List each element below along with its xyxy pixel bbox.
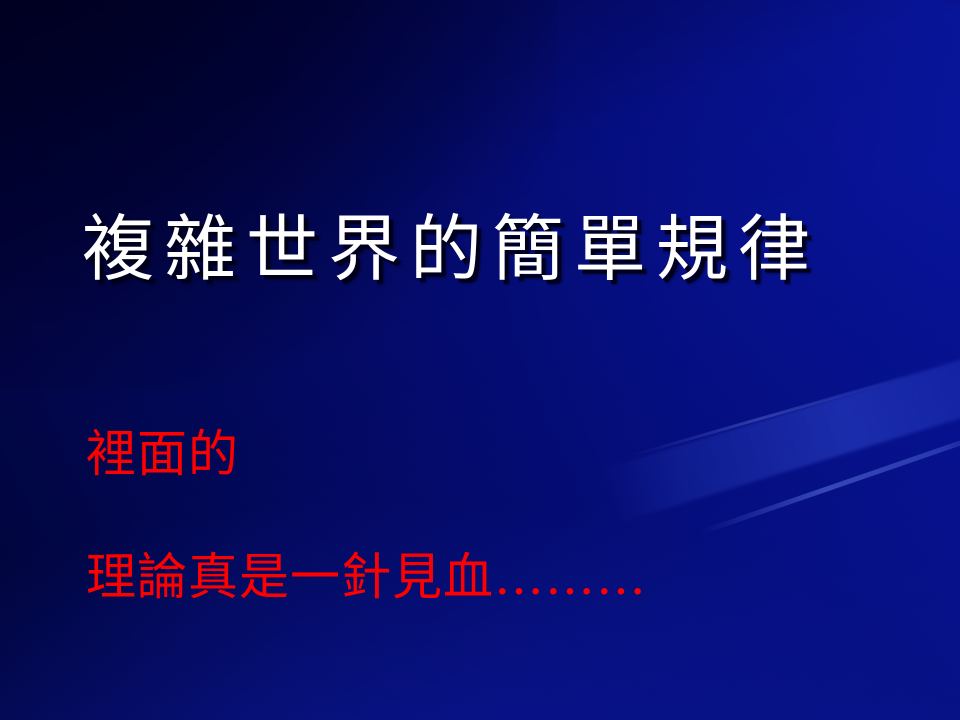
slide-canvas: 複雜世界的簡單規律 裡面的 理論真是一針見血……… (0, 0, 960, 720)
slide-body-line-2: 理論真是一針見血……… (86, 552, 647, 602)
slide-title: 複雜世界的簡單規律 (82, 213, 902, 285)
slide-body-line-1: 裡面的 (86, 429, 239, 479)
slide-content: 複雜世界的簡單規律 裡面的 理論真是一針見血……… (0, 0, 960, 720)
